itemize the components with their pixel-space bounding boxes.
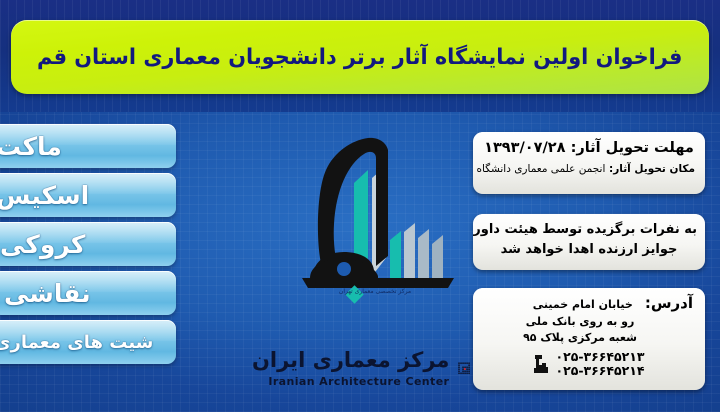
phone-numbers: ۰۲۵-۳۶۶۴۵۲۱۳ ۰۲۵-۳۶۶۴۵۲۱۴ (555, 350, 644, 379)
phone-icon (533, 354, 549, 374)
prize-panel: به نفرات برگزیده توسط هیئت داوران جوایز … (473, 214, 705, 270)
category-label: نقاشی (4, 279, 91, 308)
phone-block: ۰۲۵-۳۶۶۴۵۲۱۳ ۰۲۵-۳۶۶۴۵۲۱۴ (485, 350, 693, 379)
category-item-sheet-memari[interactable]: شیت های معماری (0, 320, 176, 364)
deadline-panel: مهلت تحویل آثار: ۱۳۹۳/۰۷/۲۸ مکان تحویل آ… (473, 132, 705, 194)
deadline-line: مهلت تحویل آثار: ۱۳۹۳/۰۷/۲۸ (483, 139, 695, 157)
serat-logo-caption: مرکز تخصصی معماری تهران (300, 288, 450, 295)
category-label: ماکت (0, 132, 62, 161)
iranian-architecture-center-logo: مرکز معماری ایران Iranian Architecture C… (252, 340, 472, 398)
poster-canvas: فراخوان اولین نمایشگاه آثار برتر دانشجوی… (0, 0, 720, 412)
iac-name-fa: مرکز معماری ایران (252, 350, 449, 371)
category-list: ماکت اسکیس کروکی نقاشی شیت های معماری (0, 124, 176, 364)
iac-text-wrap: مرکز معماری ایران Iranian Architecture C… (252, 350, 449, 388)
address-line-1: خیابان امام خمینی (533, 298, 633, 311)
iac-name-en: Iranian Architecture Center (268, 375, 449, 388)
prize-line-1: به نفرات برگزیده توسط هیئت داوران (481, 220, 697, 240)
serat-logo-icon (282, 128, 474, 313)
serat-logo (282, 128, 474, 313)
poster-title: فراخوان اولین نمایشگاه آثار برتر دانشجوی… (37, 45, 682, 70)
category-label: کروکی (0, 230, 85, 259)
phone-number-1: ۰۲۵-۳۶۶۴۵۲۱۳ (555, 350, 644, 364)
iac-labyrinth-icon (458, 342, 472, 396)
address-line-3: شعبه مرکزی پلاک ۹۵ (485, 331, 693, 344)
place-value: انجمن علمی معماری دانشگاه قم (473, 163, 605, 175)
phone-number-2: ۰۲۵-۳۶۶۴۵۲۱۴ (555, 364, 644, 378)
address-head-row: آدرس: خیابان امام خمینی (485, 294, 693, 312)
title-banner: فراخوان اولین نمایشگاه آثار برتر دانشجوی… (11, 20, 709, 94)
address-line-2: رو به روی بانک ملی (485, 315, 693, 328)
category-item-kroki[interactable]: کروکی (0, 222, 176, 266)
deadline-label: مهلت تحویل آثار: (571, 140, 694, 156)
category-item-maket[interactable]: ماکت (0, 124, 176, 168)
prize-line-2: جوایز ارزنده اهدا خواهد شد (481, 240, 697, 260)
category-item-eskis[interactable]: اسکیس (0, 173, 176, 217)
address-panel: آدرس: خیابان امام خمینی رو به روی بانک م… (473, 288, 705, 390)
address-label: آدرس: (645, 294, 693, 312)
category-label: اسکیس (0, 181, 89, 210)
category-item-naghashi[interactable]: نقاشی (0, 271, 176, 315)
place-line: مکان تحویل آثار: انجمن علمی معماری دانشگ… (483, 163, 695, 175)
deadline-value: ۱۳۹۳/۰۷/۲۸ (484, 140, 565, 156)
place-label: مکان تحویل آثار: (609, 163, 695, 175)
iac-logo-center-dot (464, 368, 466, 370)
category-label: شیت های معماری (0, 332, 153, 353)
